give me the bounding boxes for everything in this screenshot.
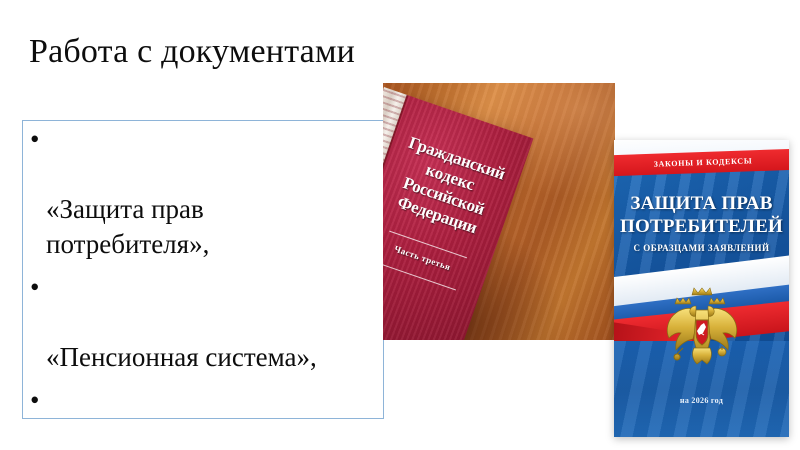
red-book-photo[interactable]: Гражданский кодекс Российской Федерации … bbox=[383, 83, 615, 340]
list-item-label: «Защита прав потребителя», bbox=[46, 194, 209, 259]
blue-book-photo[interactable]: ЗАКОНЫ И КОДЕКСЫ ЗАЩИТА ПРАВ ПОТРЕБИТЕЛЕ… bbox=[614, 140, 789, 437]
blue-book-title-block: ЗАЩИТА ПРАВ ПОТРЕБИТЕЛЕЙ С ОБРАЗЦАМИ ЗАЯ… bbox=[614, 192, 789, 253]
bullet-marker-icon: • bbox=[30, 383, 39, 418]
blue-book-title-line-2: ПОТРЕБИТЕЛЕЙ bbox=[614, 215, 789, 238]
book-cover-text: Гражданский кодекс Российской Федерации bbox=[383, 128, 522, 247]
list-item[interactable]: • «Защита прав потребителя», bbox=[30, 122, 430, 262]
book-part-label: Часть третья bbox=[383, 232, 487, 284]
blue-book-year-label: на 2026 год bbox=[614, 396, 789, 405]
blue-book-title-line-1: ЗАЩИТА ПРАВ bbox=[614, 192, 789, 215]
bullet-list: • «Защита прав потребителя», • «Пенсионн… bbox=[30, 122, 430, 450]
blue-book-subtitle: С ОБРАЗЦАМИ ЗАЯВЛЕНИЙ bbox=[614, 243, 789, 253]
bullet-marker-icon: • bbox=[30, 122, 39, 157]
list-item-label: «Пенсионная система», bbox=[46, 342, 317, 372]
list-item[interactable]: • «Страхование» bbox=[30, 383, 430, 450]
presentation-slide: Работа с документами • «Защита прав потр… bbox=[0, 0, 800, 450]
russian-coat-of-arms-icon bbox=[663, 286, 741, 370]
list-item[interactable]: • «Пенсионная система», bbox=[30, 270, 430, 375]
bullet-marker-icon: • bbox=[30, 270, 39, 305]
page-title: Работа с документами bbox=[29, 32, 549, 72]
series-banner-label: ЗАКОНЫ И КОДЕКСЫ bbox=[653, 156, 752, 168]
